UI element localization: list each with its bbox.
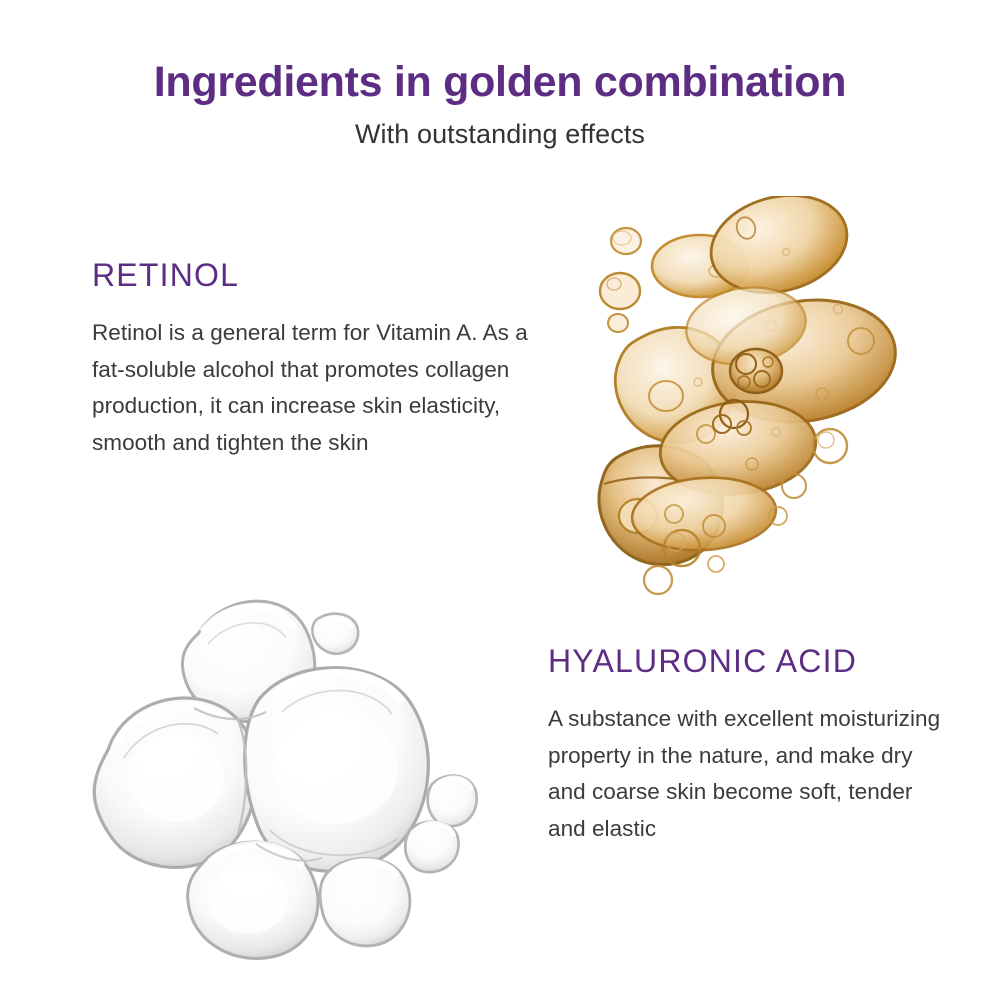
water-bubble-group xyxy=(94,601,476,958)
ingredient-description-hyaluronic-acid: A substance with excellent moisturizing … xyxy=(548,701,948,847)
ingredient-name-hyaluronic-acid: HYALURONIC ACID xyxy=(548,644,948,679)
ingredient-description-retinol: Retinol is a general term for Vitamin A.… xyxy=(92,315,532,461)
infographic-page: Ingredients in golden combination With o… xyxy=(0,0,1000,1000)
golden-oil-droplets-image xyxy=(586,196,906,596)
oil-droplet-group xyxy=(599,196,904,594)
ingredient-block-retinol: RETINOL Retinol is a general term for Vi… xyxy=(92,258,532,461)
page-subtitle: With outstanding effects xyxy=(0,119,1000,150)
ingredient-block-hyaluronic-acid: HYALURONIC ACID A substance with excelle… xyxy=(548,644,948,847)
page-header: Ingredients in golden combination With o… xyxy=(0,58,1000,150)
clear-water-bubbles-image xyxy=(80,572,500,972)
ingredient-name-retinol: RETINOL xyxy=(92,258,532,293)
page-title: Ingredients in golden combination xyxy=(0,58,1000,107)
